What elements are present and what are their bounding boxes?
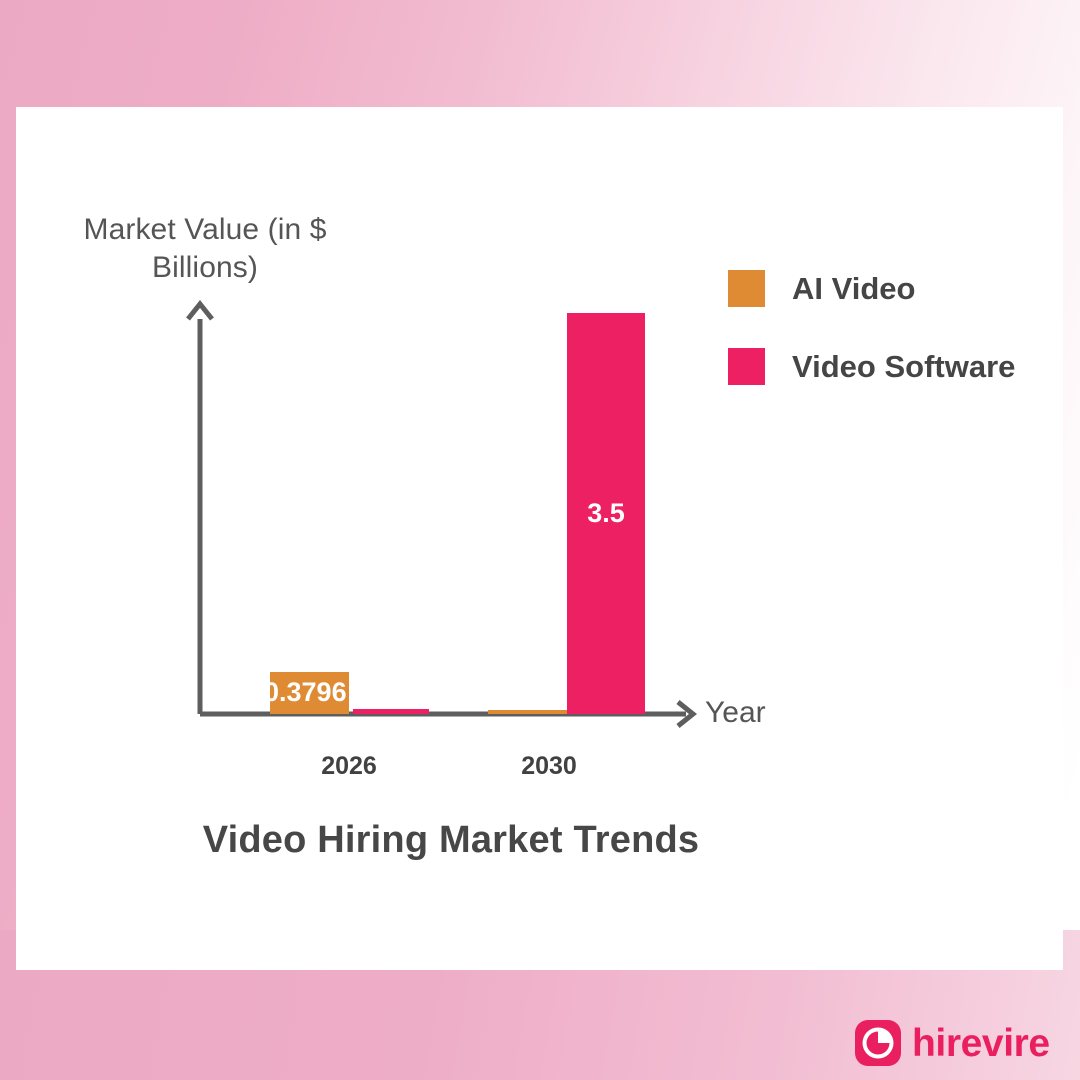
legend-item-video-software[interactable]: Video Software (728, 348, 1015, 385)
bar-value-label: 0.3796 (264, 679, 343, 706)
x-tick-2026: 2026 (273, 752, 425, 781)
legend-label-ai-video: AI Video (792, 273, 915, 304)
bar-chart: Market Value (in $ Billions) Year 0.3796 (16, 107, 1063, 970)
x-tick-2030: 2030 (473, 752, 625, 781)
bar-rect (353, 709, 429, 714)
legend-swatch-video-software (728, 348, 765, 385)
clock-pie-icon (855, 1020, 901, 1066)
chart-title: Video Hiring Market Trends (16, 819, 886, 862)
chart-legend: AI Video Video Software (728, 270, 1015, 426)
brand-name: hirevire (912, 1024, 1050, 1063)
bar-rect (488, 710, 567, 714)
x-axis-title: Year (705, 696, 766, 730)
chart-card: Market Value (in $ Billions) Year 0.3796 (16, 107, 1063, 970)
legend-item-ai-video[interactable]: AI Video (728, 270, 1015, 307)
brand-lockup[interactable]: hirevire (855, 1020, 1050, 1066)
poster-canvas: Market Value (in $ Billions) Year 0.3796 (0, 0, 1080, 1080)
legend-label-video-software: Video Software (792, 351, 1015, 382)
bar-value-label: 3.5 (567, 500, 645, 527)
legend-swatch-ai-video (728, 270, 765, 307)
